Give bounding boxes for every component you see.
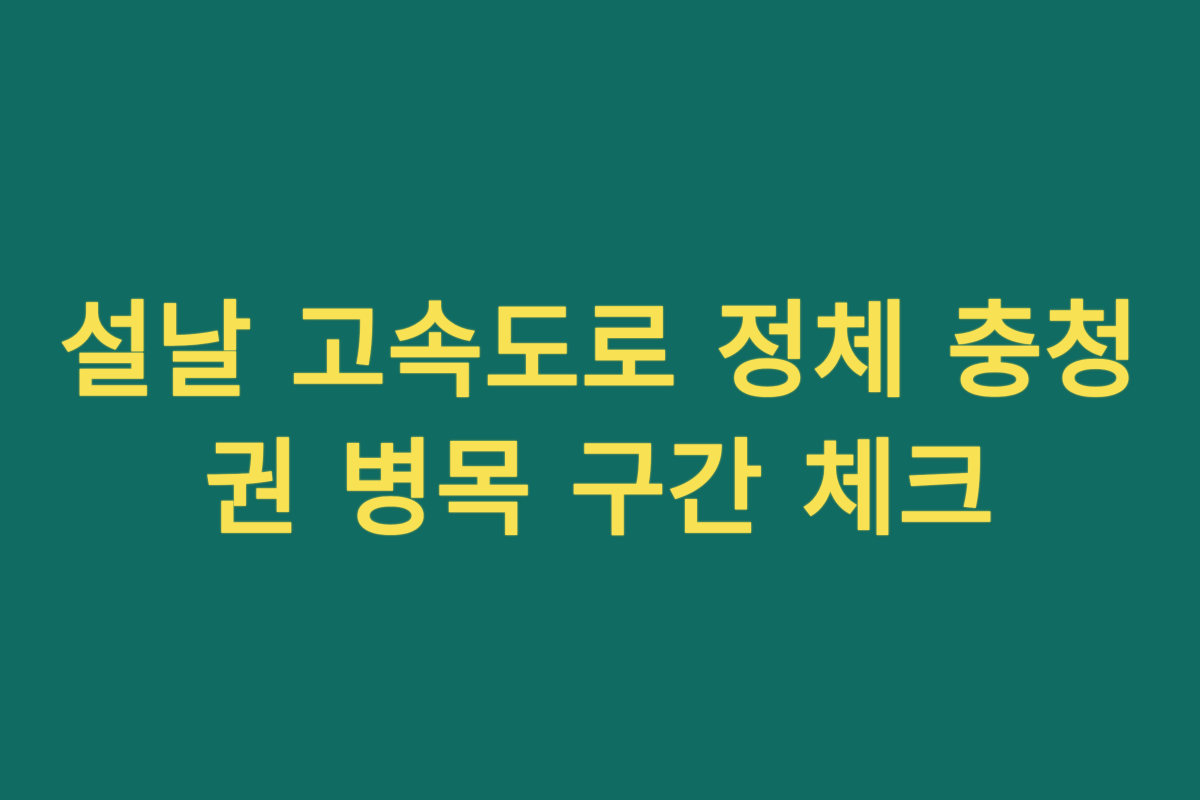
- title-line-2: 권 병목 구간 체크: [205, 420, 996, 558]
- page-title: 설날 고속도로 정체 충청 권 병목 구간 체크: [0, 282, 1200, 559]
- title-card: 설날 고속도로 정체 충청 권 병목 구간 체크: [0, 0, 1200, 800]
- title-line-1: 설날 고속도로 정체 충청: [59, 282, 1141, 420]
